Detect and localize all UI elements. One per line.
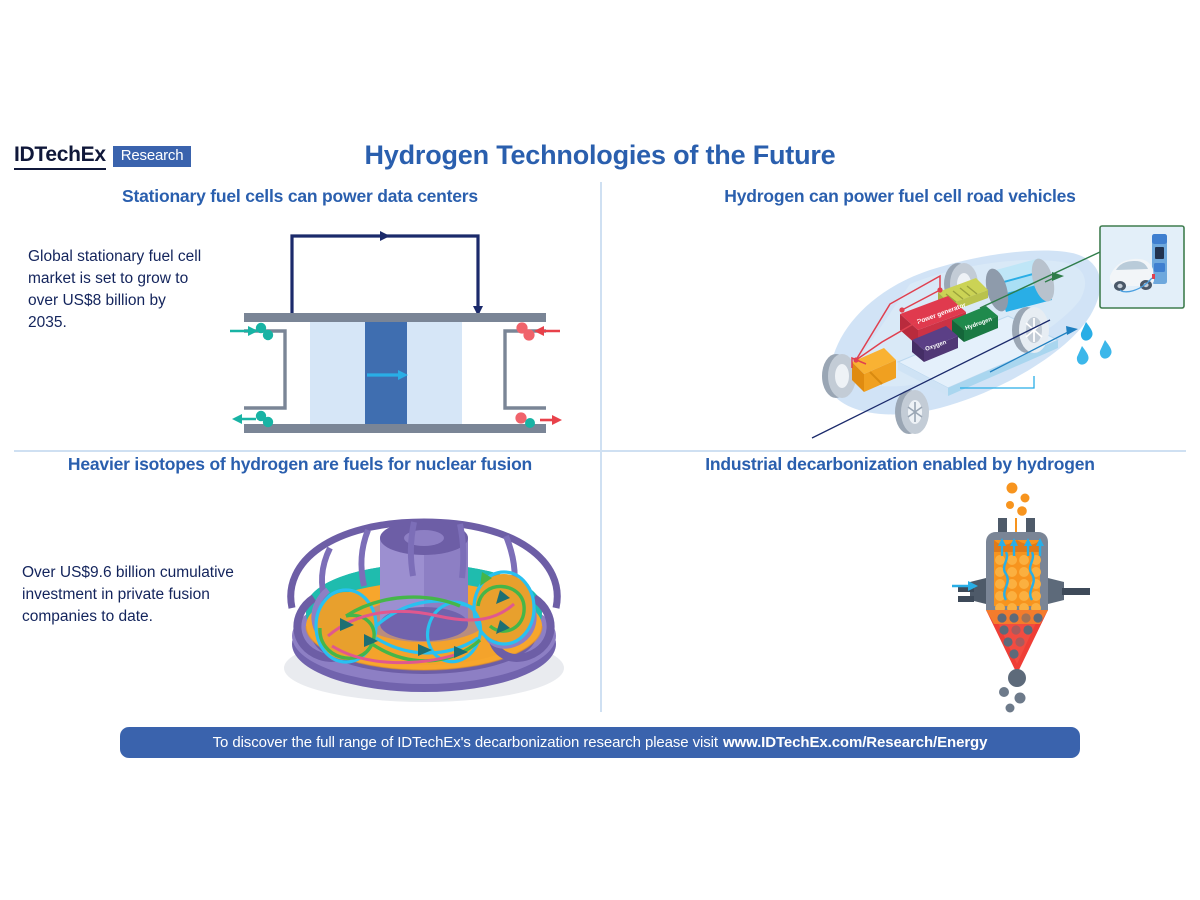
central-solenoid <box>380 521 468 641</box>
direct-reduction-furnace <box>952 478 1102 716</box>
quadrant-heading: Industrial decarbonization enabled by hy… <box>600 454 1200 475</box>
fuel-cell-diagram <box>230 228 560 453</box>
cta-text: To discover the full range of IDTechEx's… <box>213 734 718 751</box>
water-droplets <box>1077 322 1112 365</box>
page-title: Hydrogen Technologies of the Future <box>0 140 1200 171</box>
hydrogen-car-cutaway: Power generator Hydrogen Oxygen <box>790 212 1190 452</box>
quadrant-body-text: Global stationary fuel cell market is se… <box>28 246 208 334</box>
quadrant-industrial-decarbonization: Industrial decarbonization enabled by hy… <box>600 454 1200 712</box>
quadrant-heading: Heavier isotopes of hydrogen are fuels f… <box>0 454 600 475</box>
infographic-canvas: IDTechEx Research Hydrogen Technologies … <box>0 0 1200 900</box>
hydrogen-molecule-in <box>256 323 273 340</box>
iron-output-pellets <box>999 687 1026 713</box>
cta-banner[interactable]: To discover the full range of IDTechEx's… <box>120 727 1080 758</box>
refueling-station-inset <box>1100 226 1184 308</box>
wheel-front-left <box>822 354 856 398</box>
oxygen-molecule-in <box>516 322 534 340</box>
iron-ore-pellets-input <box>1006 483 1030 516</box>
quadrant-heading: Hydrogen can power fuel cell road vehicl… <box>600 186 1200 207</box>
quadrant-heading: Stationary fuel cells can power data cen… <box>0 186 600 207</box>
quadrant-body-text: Over US$9.6 billion cumulative investmen… <box>22 562 287 628</box>
cta-url[interactable]: www.IDTechEx.com/Research/Energy <box>723 734 987 751</box>
tokamak-diagram <box>268 486 580 708</box>
wheel-rear-left <box>895 390 929 434</box>
